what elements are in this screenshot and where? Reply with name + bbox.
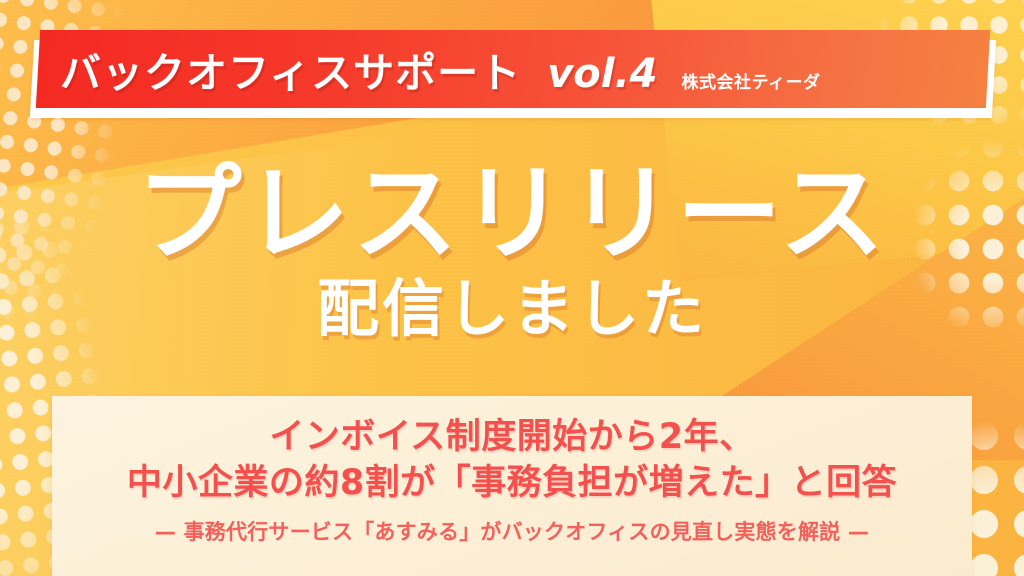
slide-canvas: バックオフィスサポート vol.4 株式会社ティーダ プレスリリース 配信しまし… <box>0 0 1024 576</box>
banner-company-name: 株式会社ティーダ <box>681 68 820 93</box>
banner-red-bar: バックオフィスサポート vol.4 株式会社ティーダ <box>36 30 990 108</box>
banner-content: バックオフィスサポート vol.4 株式会社ティーダ <box>38 39 988 99</box>
header-banner: バックオフィスサポート vol.4 株式会社ティーダ <box>0 30 1024 116</box>
banner-title: バックオフィスサポート <box>60 39 521 99</box>
summary-headline-line2: 中小企業の約8割が「事務負担が増えた」と回答 <box>52 460 972 506</box>
page-title: プレスリリース <box>0 160 1024 269</box>
page-subtitle: 配信しました <box>0 275 1024 343</box>
banner-volume-label: vol.4 <box>547 51 657 97</box>
hero-section: プレスリリース 配信しました <box>0 160 1024 343</box>
summary-headline-line1: インボイス制度開始から2年、 <box>52 414 972 460</box>
summary-card: インボイス制度開始から2年、 中小企業の約8割が「事務負担が増えた」と回答 — … <box>52 396 972 576</box>
summary-subnote: — 事務代行サービス「あすみる」がバックオフィスの見直し実態を解説 — <box>52 516 972 546</box>
